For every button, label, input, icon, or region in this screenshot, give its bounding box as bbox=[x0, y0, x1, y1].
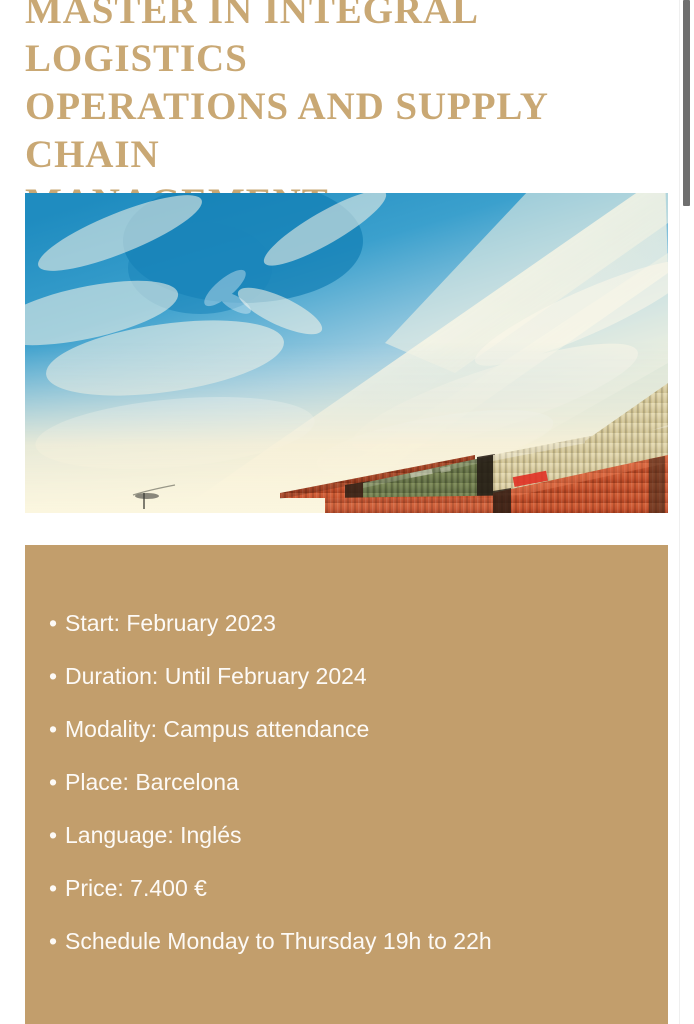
bullet-icon: • bbox=[49, 756, 65, 809]
detail-modality: Modality: Campus attendance bbox=[65, 716, 369, 742]
detail-duration: Duration: Until February 2024 bbox=[65, 663, 367, 689]
bullet-icon: • bbox=[49, 650, 65, 703]
bullet-icon: • bbox=[49, 809, 65, 862]
list-item: •Modality: Campus attendance bbox=[49, 703, 668, 756]
course-details-list: •Start: February 2023 •Duration: Until F… bbox=[25, 597, 668, 968]
list-item: •Place: Barcelona bbox=[49, 756, 668, 809]
bullet-icon: • bbox=[49, 597, 65, 650]
bullet-icon: • bbox=[49, 703, 65, 756]
page-scrollbar-thumb[interactable] bbox=[683, 0, 690, 206]
hero-illustration bbox=[25, 193, 668, 513]
list-item: •Start: February 2023 bbox=[49, 597, 668, 650]
list-item: •Schedule Monday to Thursday 19h to 22h bbox=[49, 915, 668, 968]
list-item: •Price: 7.400 € bbox=[49, 862, 668, 915]
detail-start: Start: February 2023 bbox=[65, 610, 276, 636]
bullet-icon: • bbox=[49, 915, 65, 968]
page-scrollbar-track[interactable] bbox=[679, 0, 694, 1024]
detail-price: Price: 7.400 € bbox=[65, 875, 207, 901]
bullet-icon: • bbox=[49, 862, 65, 915]
detail-place: Place: Barcelona bbox=[65, 769, 239, 795]
course-details-panel: •Start: February 2023 •Duration: Until F… bbox=[25, 545, 668, 1024]
list-item: •Language: Inglés bbox=[49, 809, 668, 862]
page-root: MASTER IN INTEGRAL LOGISTICS OPERATIONS … bbox=[0, 0, 694, 1024]
list-item: •Duration: Until February 2024 bbox=[49, 650, 668, 703]
detail-language: Language: Inglés bbox=[65, 822, 242, 848]
detail-schedule: Schedule Monday to Thursday 19h to 22h bbox=[65, 928, 492, 954]
hero-image bbox=[25, 193, 668, 513]
